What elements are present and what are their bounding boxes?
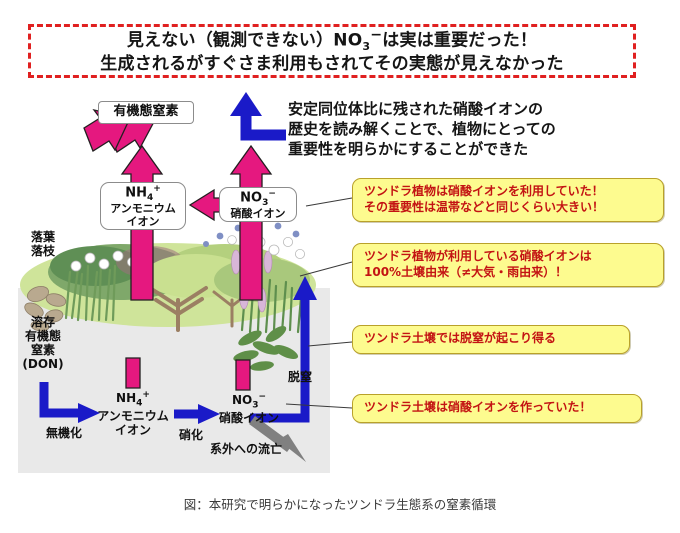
label-ammonium-soil-name-2: イオン [92, 423, 174, 437]
label-don-line-1: 溶存 [14, 315, 72, 329]
label-dissolved-organic-nitrogen: 溶存 有機態 窒素 (DON) [14, 315, 72, 372]
box-nitrate-plant: NO3− 硝酸イオン [219, 187, 297, 222]
box-ammonium-plant: NH4+ アンモニウム イオン [100, 182, 186, 230]
box-nitrate-plant-name: 硝酸イオン [231, 208, 286, 220]
box-nitrate-plant-formula: NO3− [240, 189, 276, 208]
label-ammonium-soil-formula: NH4+ [92, 390, 174, 409]
box-ammonium-plant-formula: NH4+ [125, 184, 161, 203]
label-nitrate-soil: NO3− 硝酸イオン [214, 392, 284, 425]
label-nitrate-soil-name: 硝酸イオン [214, 411, 284, 425]
label-litterfall-line-2: 落枝 [18, 244, 68, 258]
label-don-line-4: (DON) [14, 357, 72, 371]
box-ammonium-plant-name-2: イオン [127, 216, 160, 228]
label-mineralization: 無機化 [38, 426, 90, 440]
label-litterfall-line-1: 落葉 [18, 230, 68, 244]
label-nitrate-soil-formula: NO3− [214, 392, 284, 411]
label-don-line-3: 窒素 [14, 343, 72, 357]
label-don-line-2: 有機態 [14, 329, 72, 343]
box-organic-nitrogen: 有機態窒素 [98, 101, 194, 124]
nitrogen-cycle-figure: 見えない（観測できない）NO3−は実は重要だった！ 生成されるがすぐさま利用もさ… [0, 0, 680, 533]
label-ammonium-soil-name-1: アンモニウム [92, 409, 174, 423]
label-nitrification: 硝化 [170, 428, 212, 442]
box-ammonium-plant-name-1: アンモニウム [110, 203, 176, 215]
label-litterfall: 落葉 落枝 [18, 230, 68, 258]
label-denitrification: 脱窒 [278, 370, 322, 384]
box-organic-nitrogen-label: 有機態窒素 [113, 105, 178, 120]
label-ammonium-soil: NH4+ アンモニウム イオン [92, 390, 174, 437]
figure-illustration-layer [0, 0, 680, 533]
label-leaching-loss: 系外への流亡 [210, 442, 310, 456]
